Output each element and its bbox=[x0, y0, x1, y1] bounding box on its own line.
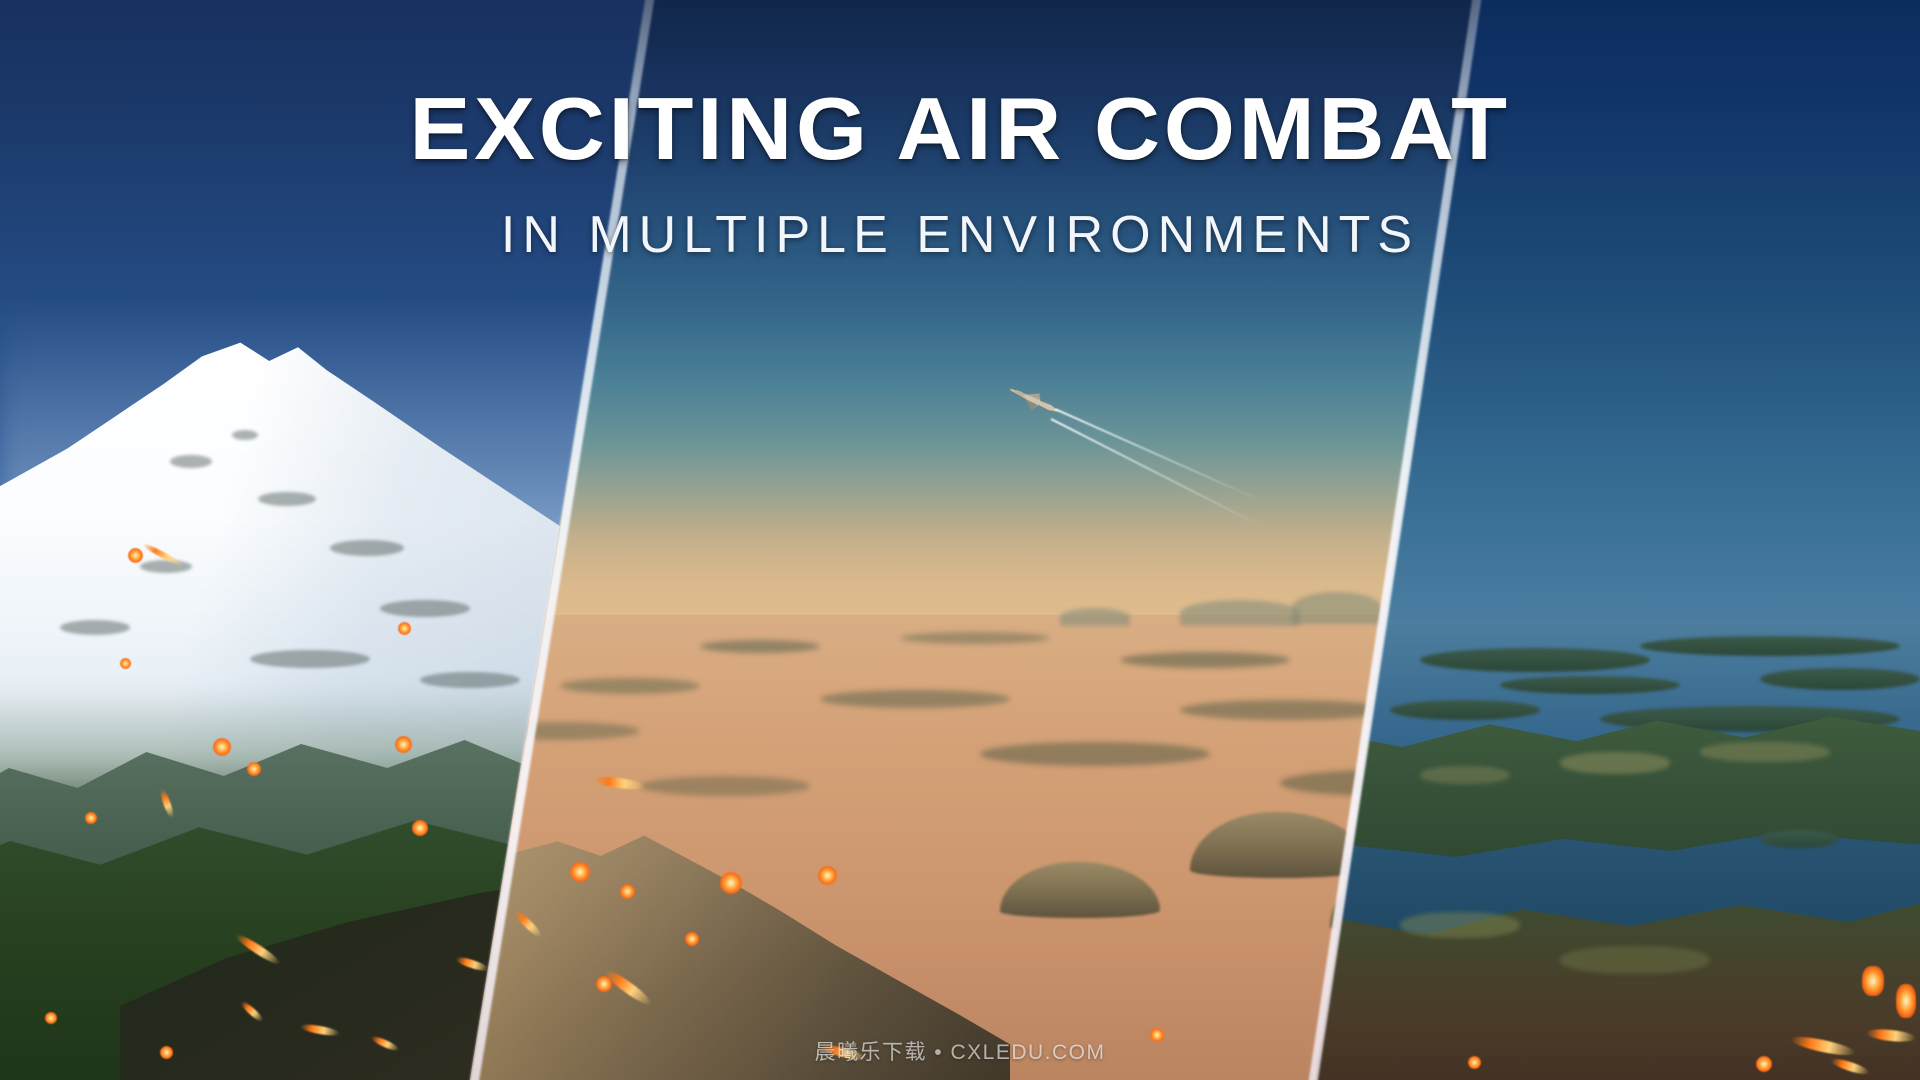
alpine-rock-outcrop bbox=[330, 540, 404, 556]
tracer-ember bbox=[85, 812, 97, 824]
alpine-rock-outcrop bbox=[380, 600, 470, 617]
alpine-rock-outcrop bbox=[170, 455, 212, 468]
tracer-ember bbox=[1896, 984, 1916, 1018]
tracer-ember bbox=[1862, 966, 1884, 996]
coastal-clearing bbox=[1560, 946, 1710, 974]
coastal-island bbox=[1420, 648, 1650, 672]
desert-scrub-patch bbox=[820, 690, 1010, 708]
coastal-clearing bbox=[1420, 766, 1510, 784]
tracer-ember bbox=[685, 932, 699, 946]
desert-scrub-patch bbox=[700, 640, 820, 653]
alpine-rock-outcrop bbox=[140, 560, 192, 573]
tracer-ember bbox=[398, 622, 411, 635]
tracer-ember bbox=[45, 1012, 57, 1024]
desert-far-hill bbox=[1060, 608, 1130, 626]
desert-far-hill bbox=[1180, 600, 1300, 626]
coastal-clearing bbox=[1560, 752, 1670, 774]
tracer-ember bbox=[720, 872, 742, 894]
tracer-ember bbox=[213, 738, 231, 756]
tracer-ember bbox=[120, 658, 131, 669]
tracer-ember bbox=[620, 884, 635, 899]
tracer-ember bbox=[247, 762, 261, 776]
desert-far-hill bbox=[1292, 592, 1382, 624]
tracer-ember bbox=[128, 548, 143, 563]
alpine-rock-outcrop bbox=[250, 650, 370, 668]
tracer-ember bbox=[818, 866, 837, 885]
promotional-banner: EXCITING AIR COMBAT IN MULTIPLE ENVIRONM… bbox=[0, 0, 1920, 1080]
desert-scrub-patch bbox=[980, 742, 1210, 766]
alpine-rock-outcrop bbox=[420, 672, 520, 688]
alpine-rock-outcrop bbox=[232, 430, 258, 440]
tracer-ember bbox=[395, 736, 412, 753]
alpine-rock-outcrop bbox=[258, 492, 316, 506]
coastal-island bbox=[1760, 668, 1920, 690]
desert-scrub-patch bbox=[1180, 700, 1390, 720]
coastal-islet bbox=[1760, 830, 1838, 848]
desert-scrub-patch bbox=[640, 776, 810, 796]
coastal-island bbox=[1390, 700, 1540, 720]
tracer-ember bbox=[570, 862, 590, 882]
coastal-clearing bbox=[1700, 742, 1830, 762]
coastal-clearing bbox=[1400, 912, 1520, 938]
coastal-island bbox=[1640, 636, 1900, 656]
coastal-island bbox=[1500, 676, 1680, 694]
tracer-ember bbox=[412, 820, 428, 836]
fighter-jet bbox=[1005, 388, 1205, 548]
alpine-rock-outcrop bbox=[60, 620, 130, 635]
desert-scrub-patch bbox=[900, 632, 1050, 644]
desert-scrub-patch bbox=[1120, 652, 1290, 668]
watermark-text: 晨曦乐下载 • CXLEDU.COM bbox=[0, 1036, 1920, 1066]
desert-scrub-patch bbox=[560, 678, 700, 694]
